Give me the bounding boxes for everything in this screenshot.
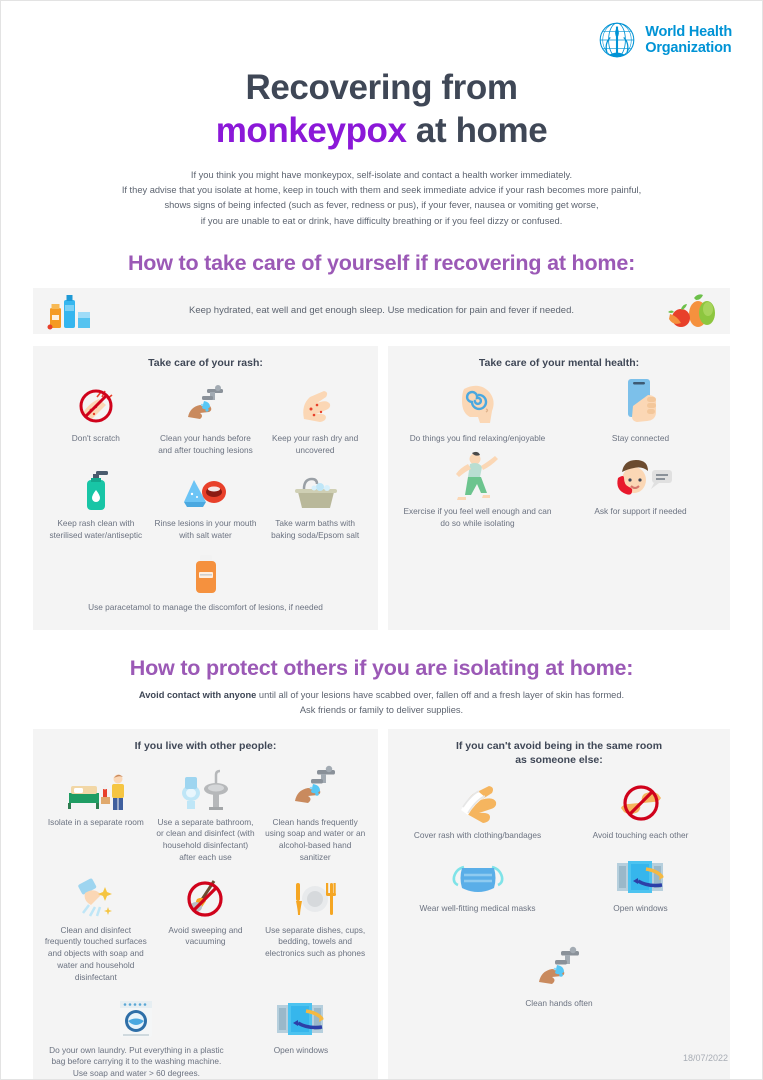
same-room-item-caption: Clean hands often (525, 998, 592, 1010)
separate-dishes-icon (288, 873, 342, 921)
mental-item-caption: Do things you find relaxing/enjoyable (410, 433, 546, 445)
section-2-heading: How to protect others if you are isolati… (1, 656, 762, 681)
who-wordmark: World Health Organization (645, 24, 732, 56)
section-1-panels: Take care of your rash: Don't scrat (33, 346, 730, 631)
wash-hands-tap-icon (532, 946, 586, 994)
mental-panel-title: Take care of your mental health: (396, 357, 722, 371)
washing-machine-icon (115, 993, 157, 1041)
protect-item-caption: Use separate dishes, cups, bedding, towe… (263, 925, 367, 960)
mental-health-panel: Take care of your mental health: Do thin… (388, 346, 730, 631)
relaxing-mind-icon (450, 381, 506, 429)
section-2-note-rest: until all of your lesions have scabbed o… (256, 690, 624, 700)
protect-item: Isolate in a separate room (41, 760, 151, 868)
protect-item-caption: Avoid sweeping and vacuuming (154, 925, 258, 949)
fruits-vegetables-icon (664, 292, 716, 330)
open-window-icon (612, 851, 670, 899)
salt-mouth-rinse-icon (180, 466, 230, 514)
who-emblem-icon (596, 19, 638, 61)
protect-item-caption: Open windows (274, 1045, 328, 1057)
exercise-person-icon (450, 454, 506, 502)
same-room-panel: If you can't avoid being in the same roo… (388, 729, 730, 1080)
section-2-panels: If you live with other people: (33, 729, 730, 1080)
who-name-line2: Organization (645, 40, 732, 56)
same-room-item: Clean hands often (396, 941, 722, 1014)
mental-item: Do things you find relaxing/enjoyable (396, 376, 559, 449)
open-window-icon (272, 993, 330, 1041)
title-line-2-rest: at home (407, 111, 548, 150)
no-scratching-icon (73, 381, 119, 429)
rash-item: Rinse lesions in your mouth with salt wa… (151, 461, 261, 546)
wash-hands-tap-icon (180, 381, 230, 429)
same-room-title: If you can't avoid being in the same roo… (396, 740, 722, 767)
rash-item-caption: Take warm baths with baking soda/Epsom s… (263, 518, 367, 542)
bathtub-icon (290, 466, 340, 514)
mental-item-caption: Ask for support if needed (594, 506, 686, 518)
hydration-text: Keep hydrated, eat well and get enough s… (99, 305, 664, 316)
who-logo: World Health Organization (596, 19, 732, 61)
protect-item: Use separate dishes, cups, bedding, towe… (260, 868, 370, 988)
protect-item: Open windows (232, 988, 370, 1080)
protect-item: Clean and disinfect frequently touched s… (41, 868, 151, 988)
medicine-bottle-water-icon (47, 292, 99, 330)
title-line-1: Recovering from (1, 67, 762, 110)
mental-item-caption: Exercise if you feel well enough and can… (399, 506, 556, 530)
rash-panel-title: Take care of your rash: (41, 357, 370, 371)
mental-items-grid: Do things you find relaxing/enjoyable (396, 376, 722, 533)
same-room-item: Avoid touching each other (559, 773, 722, 846)
same-room-item-caption: Avoid touching each other (593, 830, 689, 842)
same-room-title-line-2: as someone else: (396, 754, 722, 768)
medical-mask-icon (450, 851, 506, 899)
rash-item: Keep your rash dry and uncovered (260, 376, 370, 461)
protect-item: Do your own laundry. Put everything in a… (41, 988, 232, 1080)
no-sweeping-icon (181, 873, 229, 921)
rash-item-caption: Don't scratch (72, 433, 120, 445)
separate-bathroom-icon (176, 765, 234, 813)
protect-item: Clean hands frequently using soap and wa… (260, 760, 370, 868)
rash-item-caption: Keep your rash dry and uncovered (263, 433, 367, 457)
section-2-note: Avoid contact with anyone until all of y… (37, 688, 727, 717)
mental-item-caption: Stay connected (612, 433, 669, 445)
hydration-banner: Keep hydrated, eat well and get enough s… (33, 288, 730, 334)
same-room-item: Cover rash with clothing/bandages (396, 773, 559, 846)
rash-item-caption: Use paracetamol to manage the discomfort… (88, 602, 323, 614)
rash-item: Use paracetamol to manage the discomfort… (41, 545, 370, 618)
rash-item: Take warm baths with baking soda/Epsom s… (260, 461, 370, 546)
same-room-item: Wear well-fitting medical masks (396, 846, 559, 919)
protect-item: Use a separate bathroom, or clean and di… (151, 760, 261, 868)
rash-item: Clean your hands before and after touchi… (151, 376, 261, 461)
intro-line-2: If they advise that you isolate at home,… (32, 183, 732, 198)
rash-items-grid: Don't scratch (41, 376, 370, 618)
protect-item-caption: Isolate in a separate room (48, 817, 144, 829)
section-2-note-bold: Avoid contact with anyone (139, 690, 256, 700)
who-name-line1: World Health (645, 24, 732, 40)
smartphone-hand-icon (620, 381, 662, 429)
rash-item: Keep rash clean with sterilised water/an… (41, 461, 151, 546)
rash-item-caption: Clean your hands before and after touchi… (154, 433, 258, 457)
intro-line-1: If you think you might have monkeypox, s… (32, 168, 732, 183)
infographic-page: World Health Organization Recovering fro… (0, 0, 763, 1080)
protect-item-caption: Clean hands frequently using soap and wa… (263, 817, 367, 864)
live-with-others-panel: If you live with other people: (33, 729, 378, 1080)
clean-surfaces-icon (71, 873, 121, 921)
separate-room-bed-icon (65, 765, 127, 813)
mental-item: Stay connected (559, 376, 722, 449)
dry-hand-rash-icon (292, 381, 338, 429)
live-with-others-grid: Isolate in a separate room (41, 760, 370, 1080)
title-highlight: monkeypox (216, 111, 407, 150)
section-2-note-line-1: Avoid contact with anyone until all of y… (37, 688, 727, 702)
antiseptic-bottle-icon (76, 466, 116, 514)
protect-item-caption: Clean and disinfect frequently touched s… (44, 925, 148, 984)
rash-care-panel: Take care of your rash: Don't scrat (33, 346, 378, 631)
intro-line-4: if you are unable to eat or drink, have … (32, 214, 732, 229)
support-call-icon (610, 454, 672, 502)
mental-item: Ask for support if needed (559, 449, 722, 534)
page-title: Recovering from monkeypox at home (1, 67, 762, 152)
section-1-heading: How to take care of yourself if recoveri… (1, 251, 762, 276)
live-with-others-title: If you live with other people: (41, 740, 370, 754)
protect-item-caption: Use a separate bathroom, or clean and di… (154, 817, 258, 864)
protect-item: Avoid sweeping and vacuuming (151, 868, 261, 988)
no-touching-hands-icon (616, 778, 666, 826)
protect-item-caption: Do your own laundry. Put everything in a… (44, 1045, 229, 1080)
footer-date: 18/07/2022 (683, 1053, 728, 1063)
intro-line-3: shows signs of being infected (such as f… (32, 198, 732, 213)
same-room-item-caption: Cover rash with clothing/bandages (414, 830, 541, 842)
intro-paragraph: If you think you might have monkeypox, s… (32, 168, 732, 228)
same-room-item: Open windows (559, 846, 722, 919)
same-room-item-caption: Wear well-fitting medical masks (419, 903, 535, 915)
title-line-2: monkeypox at home (1, 110, 762, 153)
same-room-item-caption: Open windows (613, 903, 667, 915)
rash-item: Don't scratch (41, 376, 151, 461)
mental-item: Exercise if you feel well enough and can… (396, 449, 559, 534)
section-2-note-line-2: Ask friends or family to deliver supplie… (37, 703, 727, 717)
same-room-title-line-1: If you can't avoid being in the same roo… (396, 740, 722, 754)
rash-item-caption: Keep rash clean with sterilised water/an… (44, 518, 148, 542)
same-room-grid: Cover rash with clothing/bandages Avoid … (396, 773, 722, 1013)
paracetamol-bottle-icon (189, 550, 223, 598)
bandaged-arm-icon (451, 778, 505, 826)
rash-item-caption: Rinse lesions in your mouth with salt wa… (154, 518, 258, 542)
wash-hands-tap-icon (288, 765, 342, 813)
